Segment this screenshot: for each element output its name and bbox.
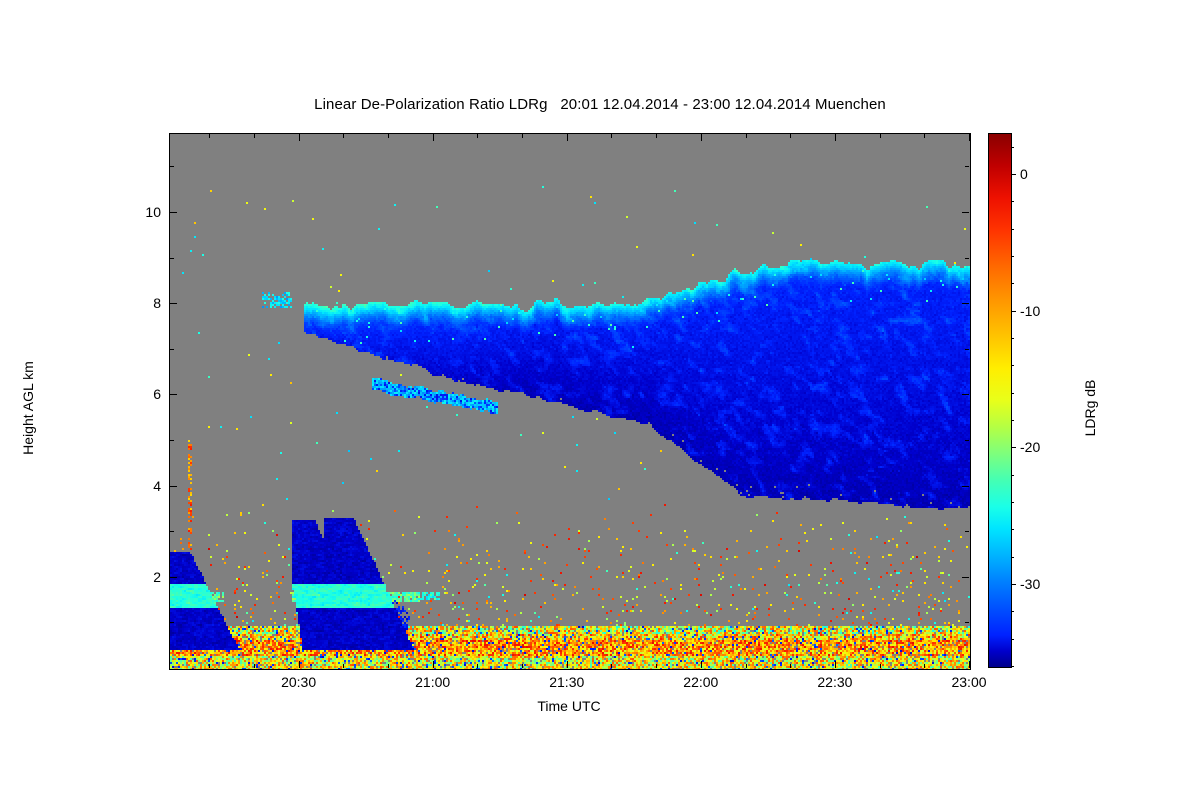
x-tick-major-top — [835, 134, 836, 141]
x-tick-minor — [656, 664, 657, 668]
x-tick-major-top — [299, 134, 300, 141]
plot-area — [169, 133, 971, 670]
x-tick-major — [433, 661, 434, 668]
colorbar-tick-major — [1011, 174, 1016, 175]
x-tick-major — [299, 661, 300, 668]
x-tick-minor-top — [790, 134, 791, 138]
y-tick-major — [170, 303, 177, 304]
y-tick-major-right — [962, 303, 969, 304]
x-tick-minor-top — [388, 134, 389, 138]
figure-root: Linear De-Polarization Ratio LDRg 20:01 … — [0, 0, 1200, 800]
colorbar-tick-major — [1011, 447, 1016, 448]
x-tick-minor — [343, 664, 344, 668]
x-tick-major — [969, 661, 970, 668]
x-tick-minor — [880, 664, 881, 668]
colorbar-tick-minor — [1011, 529, 1014, 530]
colorbar-tick-label: -20 — [1020, 439, 1040, 455]
x-tick-major — [567, 661, 568, 668]
colorbar — [988, 133, 1012, 668]
x-tick-label: 22:30 — [817, 674, 852, 690]
x-tick-minor — [746, 664, 747, 668]
colorbar-tick-major — [1011, 584, 1016, 585]
x-tick-minor — [924, 664, 925, 668]
x-tick-label: 21:00 — [415, 674, 450, 690]
colorbar-tick-minor — [1011, 201, 1014, 202]
heatmap-canvas-wrap — [170, 134, 970, 669]
y-tick-major — [170, 577, 177, 578]
x-tick-minor-top — [656, 134, 657, 138]
colorbar-tick-minor — [1011, 256, 1014, 257]
colorbar-title: LDRg dB — [1082, 318, 1098, 498]
y-tick-major-right — [962, 212, 969, 213]
colorbar-tick-minor — [1011, 639, 1014, 640]
y-tick-major-right — [962, 394, 969, 395]
colorbar-tick-minor — [1011, 557, 1014, 558]
colorbar-tick-label: 0 — [1020, 166, 1028, 182]
y-tick-minor-right — [965, 349, 969, 350]
colorbar-tick-minor — [1011, 338, 1014, 339]
x-tick-major-top — [969, 134, 970, 141]
colorbar-tick-minor — [1011, 283, 1014, 284]
x-tick-label: 21:30 — [549, 674, 584, 690]
colorbar-tick-major — [1011, 311, 1016, 312]
y-tick-major-right — [962, 577, 969, 578]
y-tick-minor-right — [965, 622, 969, 623]
colorbar-tick-label: -30 — [1020, 576, 1040, 592]
colorbar-tick-minor — [1011, 475, 1014, 476]
y-tick-label: 10 — [145, 204, 161, 220]
x-tick-minor — [790, 664, 791, 668]
y-tick-minor-right — [965, 440, 969, 441]
colorbar-tick-minor — [1011, 229, 1014, 230]
y-tick-minor — [170, 166, 174, 167]
x-tick-minor-top — [611, 134, 612, 138]
x-tick-minor-top — [924, 134, 925, 138]
x-tick-minor — [611, 664, 612, 668]
x-tick-minor-top — [477, 134, 478, 138]
colorbar-tick-minor — [1011, 420, 1014, 421]
y-tick-label: 6 — [153, 386, 161, 402]
y-tick-minor-right — [965, 531, 969, 532]
colorbar-tick-minor — [1011, 502, 1014, 503]
chart-title: Linear De-Polarization Ratio LDRg 20:01 … — [0, 96, 1200, 113]
x-tick-minor-top — [343, 134, 344, 138]
x-tick-minor-top — [880, 134, 881, 138]
x-tick-minor-top — [209, 134, 210, 138]
x-tick-major — [701, 661, 702, 668]
x-tick-minor-top — [746, 134, 747, 138]
x-tick-major — [835, 661, 836, 668]
y-tick-label: 8 — [153, 295, 161, 311]
y-tick-major — [170, 212, 177, 213]
x-tick-minor-top — [254, 134, 255, 138]
x-tick-minor — [388, 664, 389, 668]
x-tick-label: 20:30 — [281, 674, 316, 690]
x-axis-title: Time UTC — [169, 698, 969, 714]
y-tick-minor — [170, 349, 174, 350]
x-tick-major-top — [567, 134, 568, 141]
x-tick-minor — [477, 664, 478, 668]
y-tick-minor-right — [965, 166, 969, 167]
colorbar-tick-minor — [1011, 611, 1014, 612]
colorbar-tick-minor — [1011, 393, 1014, 394]
ldr-heatmap — [170, 134, 970, 669]
y-tick-minor — [170, 440, 174, 441]
x-tick-label: 22:00 — [683, 674, 718, 690]
x-tick-minor — [254, 664, 255, 668]
colorbar-tick-minor — [1011, 666, 1014, 667]
x-tick-major-top — [433, 134, 434, 141]
y-axis-title: Height AGL km — [20, 328, 36, 488]
y-tick-major — [170, 394, 177, 395]
y-tick-label: 4 — [153, 478, 161, 494]
x-tick-major-top — [701, 134, 702, 141]
y-tick-minor-right — [965, 258, 969, 259]
x-tick-label: 23:00 — [951, 674, 986, 690]
x-tick-minor-top — [522, 134, 523, 138]
y-tick-major-right — [962, 486, 969, 487]
colorbar-tick-label: -10 — [1020, 303, 1040, 319]
y-tick-minor — [170, 531, 174, 532]
y-tick-minor — [170, 622, 174, 623]
colorbar-tick-minor — [1011, 365, 1014, 366]
colorbar-tick-minor — [1011, 147, 1014, 148]
y-tick-major — [170, 486, 177, 487]
y-tick-label: 2 — [153, 569, 161, 585]
x-tick-minor — [209, 664, 210, 668]
x-tick-minor — [522, 664, 523, 668]
y-tick-minor — [170, 258, 174, 259]
